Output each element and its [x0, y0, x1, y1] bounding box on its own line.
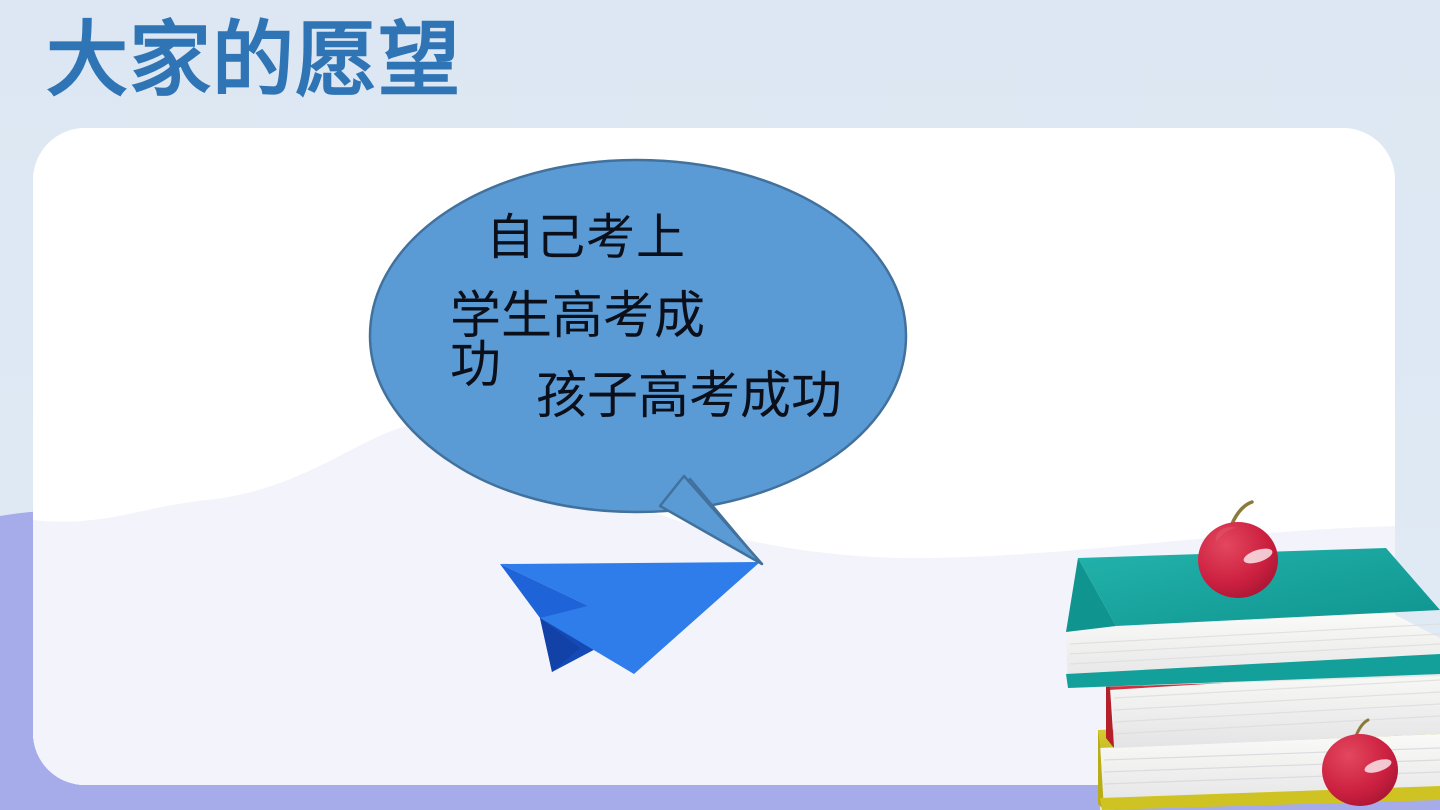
- bubble-text-self: 自己考上: [486, 212, 686, 266]
- page-title: 大家的愿望: [46, 18, 461, 104]
- book-stack-illustration: [1056, 498, 1440, 810]
- slide-canvas: 大家的愿望: [0, 0, 1440, 810]
- speech-bubble: 自己考上 学生高考成功 孩子高考成功: [360, 146, 920, 576]
- bubble-text-child: 孩子高考成功: [536, 368, 842, 424]
- apple-icon-top: [1198, 502, 1278, 598]
